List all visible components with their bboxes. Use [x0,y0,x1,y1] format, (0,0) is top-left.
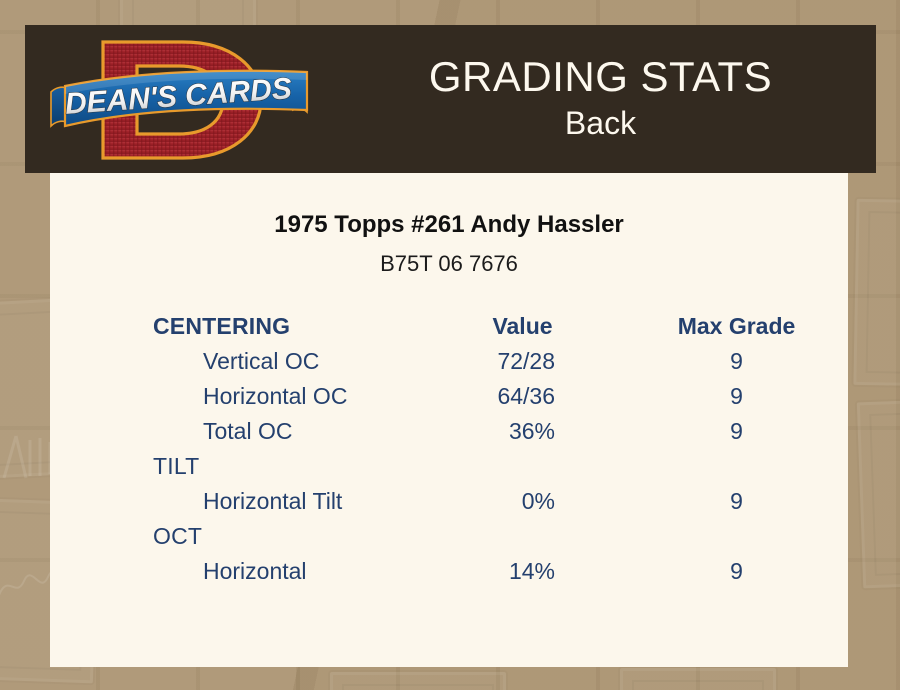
content-panel: 1975 Topps #261 Andy Hassler B75T 06 767… [50,173,848,667]
column-header-max-grade: Max Grade [625,309,848,344]
stat-max-grade: 9 [625,484,848,519]
stat-value: 36% [420,414,625,449]
section-header-spacer [625,519,848,554]
card-title: 1975 Topps #261 Andy Hassler [50,211,848,239]
section-header-row: OCT [50,519,848,554]
table-row: Horizontal OC64/369 [50,379,848,414]
table-header-row: CENTERING Value Max Grade [50,309,848,344]
page-title: GRADING STATS [429,55,772,99]
section-header-label: OCT [50,519,420,554]
section-header-label: TILT [50,449,420,484]
background-card-watermark [330,672,506,690]
stat-label: Horizontal Tilt [50,484,420,519]
stat-label: Vertical OC [50,344,420,379]
stat-max-grade: 9 [625,554,848,589]
stat-max-grade: 9 [625,344,848,379]
background-card-watermark [857,398,900,589]
grading-stats-page: DEAN'S CARDS GRADING STATS Back 1975 Top… [0,0,900,690]
column-header-centering: CENTERING [50,309,420,344]
section-header-row: TILT [50,449,848,484]
page-header: DEAN'S CARDS GRADING STATS Back [25,25,876,173]
background-card-watermark [620,668,776,690]
table-body: Vertical OC72/289Horizontal OC64/369Tota… [50,344,848,589]
section-header-spacer [420,449,625,484]
page-subtitle: Back [565,103,636,143]
table-row: Vertical OC72/289 [50,344,848,379]
section-header-spacer [420,519,625,554]
stat-max-grade: 9 [625,414,848,449]
stat-label: Horizontal OC [50,379,420,414]
stat-value: 14% [420,554,625,589]
stat-value: 0% [420,484,625,519]
header-title-block: GRADING STATS Back [325,25,876,173]
stat-label: Horizontal [50,554,420,589]
stat-max-grade: 9 [625,379,848,414]
card-code: B75T 06 7676 [50,251,848,277]
stat-value: 64/36 [420,379,625,414]
background-card-watermark [853,199,900,387]
table-row: Horizontal Tilt0%9 [50,484,848,519]
stat-label: Total OC [50,414,420,449]
table-row: Horizontal14%9 [50,554,848,589]
stat-value: 72/28 [420,344,625,379]
grading-stats-table: CENTERING Value Max Grade Vertical OC72/… [50,309,848,589]
table-head: CENTERING Value Max Grade [50,309,848,344]
table-row: Total OC36%9 [50,414,848,449]
deans-cards-logo[interactable]: DEAN'S CARDS [45,30,315,170]
column-header-value: Value [420,309,625,344]
section-header-spacer [625,449,848,484]
